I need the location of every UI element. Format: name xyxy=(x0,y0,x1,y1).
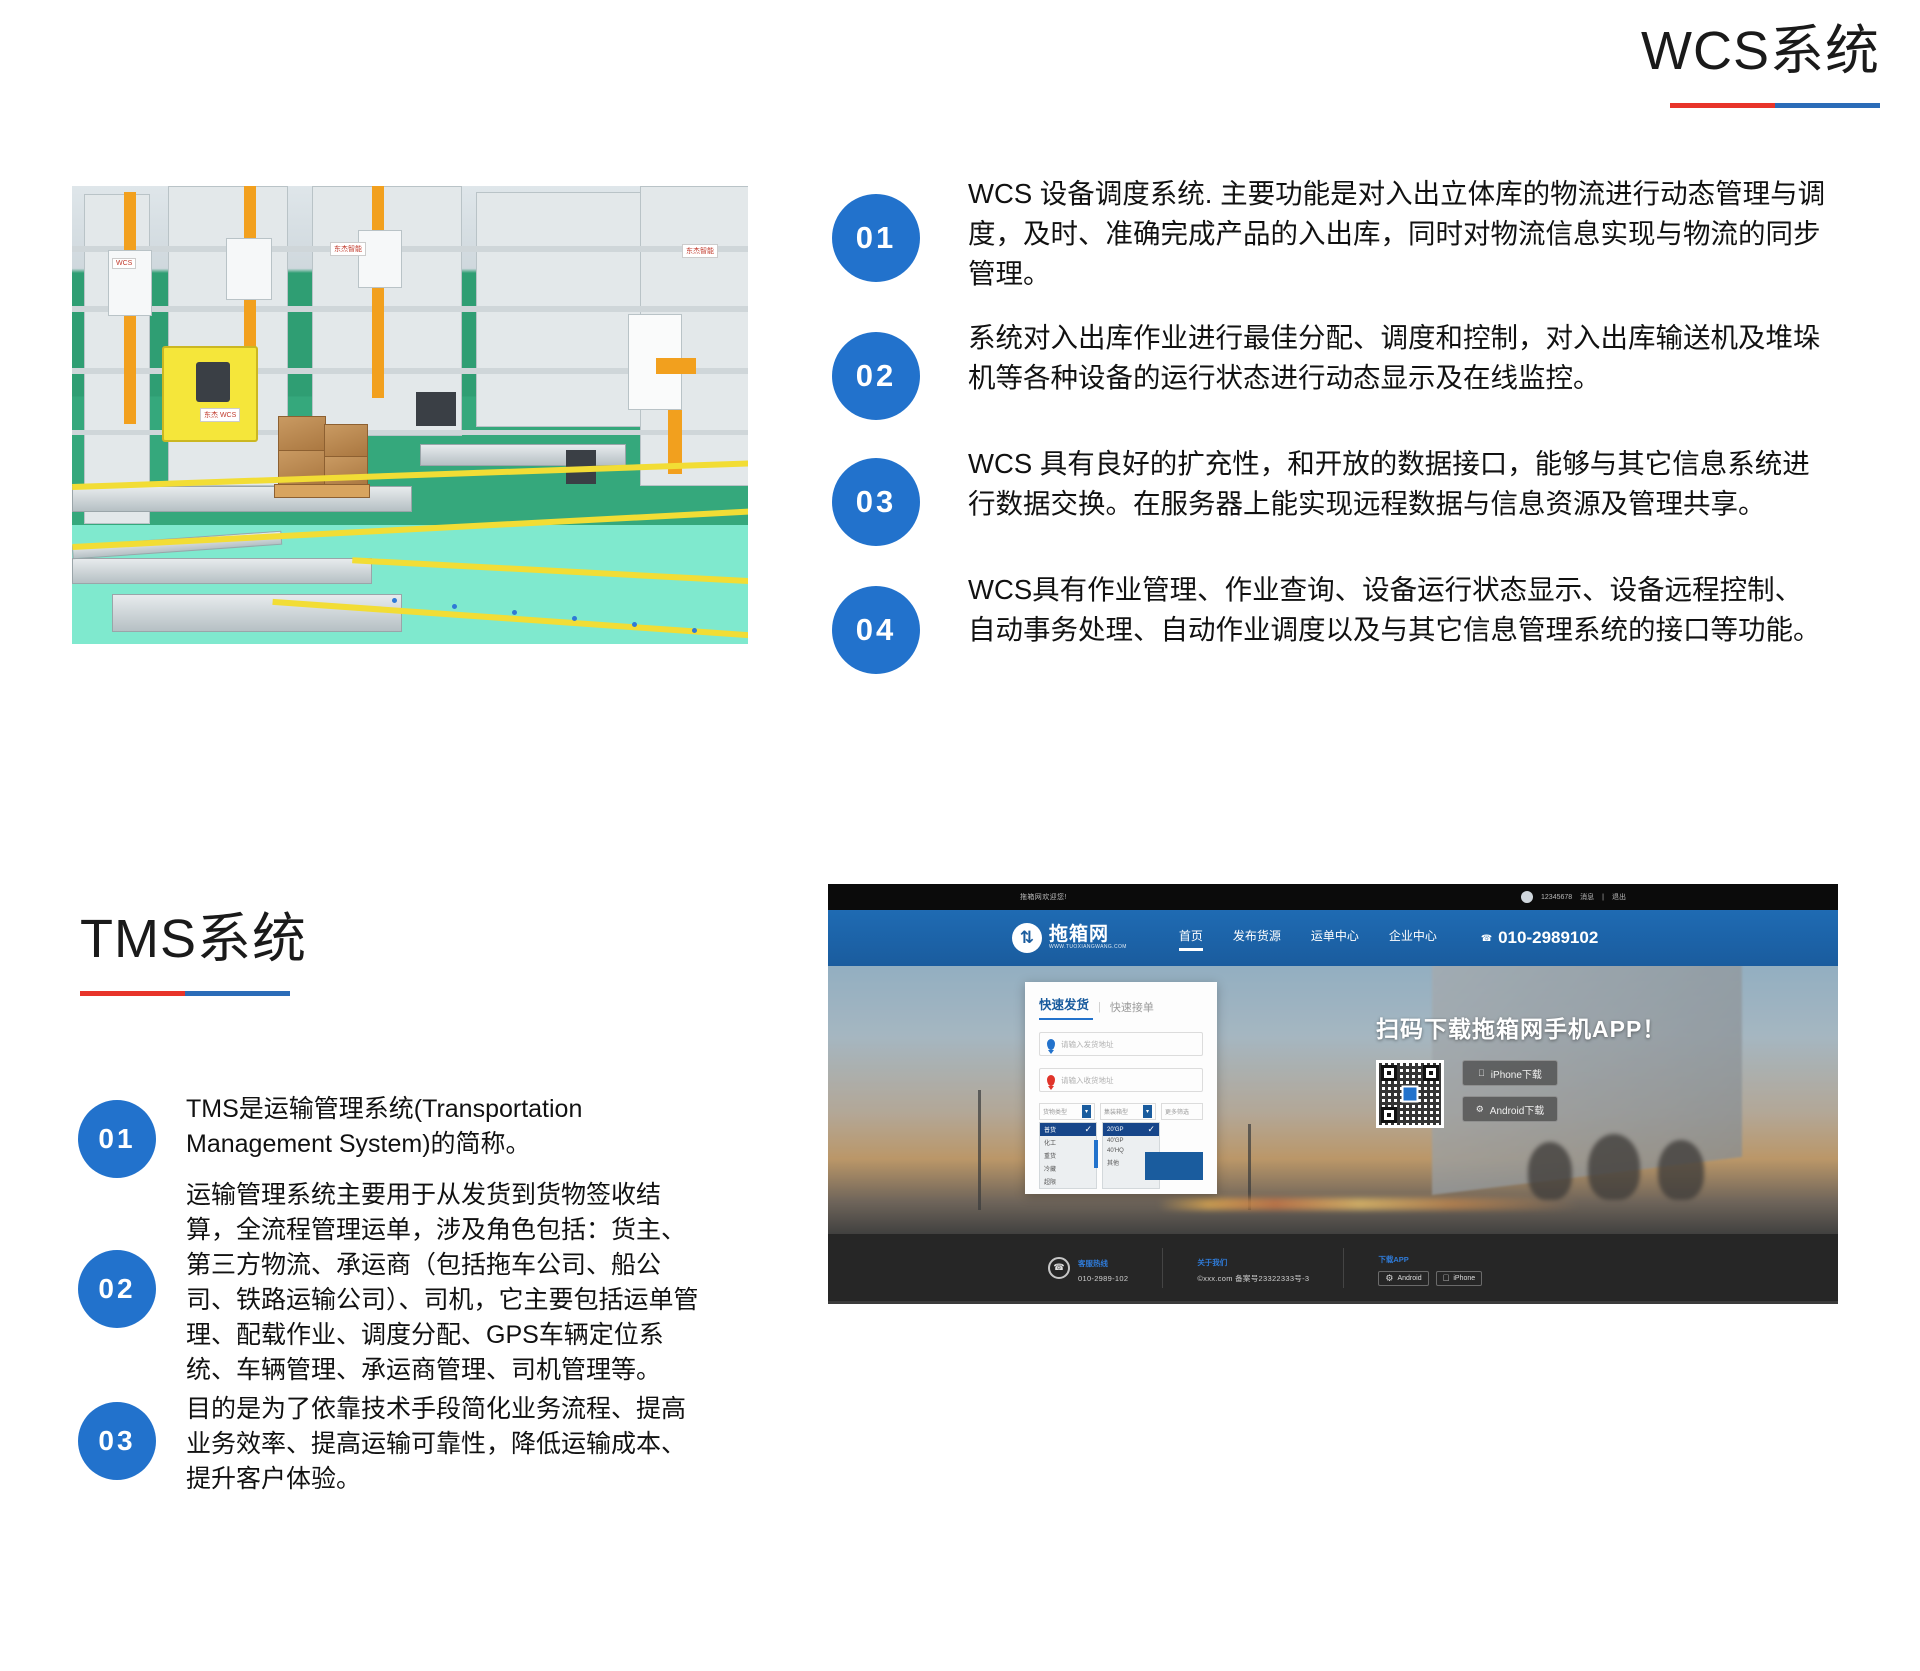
topbar-username: 12345678 xyxy=(1541,894,1572,901)
item-number-badge: 04 xyxy=(832,586,920,674)
machine-arm xyxy=(656,358,696,374)
list-item: 02 运输管理系统主要用于从发货到货物签收结算，全流程管理运单，涉及角色包括：货… xyxy=(78,1178,818,1388)
logo-brand-en: WWW.TUOXIANGWANG.COM xyxy=(1049,945,1127,950)
chevron-down-icon: ▾ xyxy=(1082,1105,1091,1118)
list-item: 03 WCS 具有良好的扩充性，和开放的数据接口，能够与其它信息系统进行数据交换… xyxy=(832,438,1892,546)
topbar-separator: | xyxy=(1602,894,1604,901)
floor-marker xyxy=(512,610,517,615)
tms-website-screenshot: 拖箱网欢迎您! 12345678 消息 | 退出 ⇅ 拖箱网 WWW.TUOXI… xyxy=(828,884,1838,1304)
hero-overlay xyxy=(828,966,1838,1234)
footer-hotline-title: 客服热线 xyxy=(1078,1259,1108,1268)
footer-iphone-button[interactable]:  iPhone xyxy=(1436,1271,1483,1286)
list-item: 04 WCS具有作业管理、作业查询、设备运行状态显示、设备远程控制、自动事务处理… xyxy=(832,564,1892,674)
wcs-title-block: WCS系统 xyxy=(1641,22,1880,108)
site-hero-banner: 快速发货 | 快速接单 请输入发货地址 请输入收货地址 货物类型 ▾ 集装箱型 xyxy=(828,966,1838,1234)
item-description: 目的是为了依靠技术手段简化业务流程、提高业务效率、提高运输可靠性，降低运输成本、… xyxy=(186,1392,706,1497)
item-number-badge: 02 xyxy=(832,332,920,420)
check-icon: ✓ xyxy=(1147,1125,1155,1134)
rack-structure xyxy=(84,194,150,524)
origin-placeholder: 请输入发货地址 xyxy=(1061,1039,1114,1050)
floor-marker xyxy=(572,616,577,621)
dropdown-scrollbar[interactable] xyxy=(1094,1140,1098,1168)
apple-icon:  xyxy=(1443,1274,1450,1283)
headset-icon: ☎ xyxy=(1048,1257,1070,1279)
title-rule-blue xyxy=(185,991,290,996)
item-description: WCS 设备调度系统. 主要功能是对入出立体库的物流进行动态管理与调度，及时、准… xyxy=(968,168,1828,294)
android-download-button[interactable]: ⚙ Android下载 xyxy=(1462,1096,1558,1122)
item-description: TMS是运输管理系统(Transportation Management Sys… xyxy=(186,1092,706,1162)
logo-text: 拖箱网 WWW.TUOXIANGWANG.COM xyxy=(1049,925,1127,950)
site-phone-number: 010-2989102 xyxy=(1498,928,1598,948)
destination-input[interactable]: 请输入收货地址 xyxy=(1039,1068,1203,1092)
destination-placeholder: 请输入收货地址 xyxy=(1061,1075,1114,1086)
qr-finder-icon xyxy=(1381,1065,1397,1081)
dropdown-option[interactable]: 40'GP xyxy=(1103,1136,1159,1146)
footer-download-column: 下载APP ⚙ Android  iPhone xyxy=(1343,1248,1516,1288)
nav-item-waybill[interactable]: 运单中心 xyxy=(1311,927,1359,949)
android-icon: ⚙ xyxy=(1385,1274,1393,1283)
list-item: 03 目的是为了依靠技术手段简化业务流程、提高业务效率、提高运输可靠性，降低运输… xyxy=(78,1392,818,1497)
destination-pin-icon xyxy=(1047,1075,1055,1086)
crane-carriage xyxy=(358,230,402,288)
dropdown-option[interactable]: 冷藏 xyxy=(1040,1162,1096,1175)
footer-android-button[interactable]: ⚙ Android xyxy=(1378,1271,1428,1286)
apple-icon:  xyxy=(1478,1069,1485,1078)
warehouse-3d-image: WCS 东杰智能 东杰智能 东杰 WCS xyxy=(72,186,748,644)
equipment-label: WCS xyxy=(112,258,136,269)
tab-quick-ship[interactable]: 快速发货 xyxy=(1039,994,1089,1020)
equipment-label: 东杰智能 xyxy=(682,244,718,258)
item-description: WCS 具有良好的扩充性，和开放的数据接口，能够与其它信息系统进行数据交换。在服… xyxy=(968,438,1828,524)
equipment-label: 东杰智能 xyxy=(330,242,366,256)
carton-box xyxy=(278,416,326,454)
conveyor-line xyxy=(112,594,402,632)
footer-hotline-text: 客服热线 010-2989-102 xyxy=(1078,1253,1128,1283)
qr-finder-icon xyxy=(1381,1107,1397,1123)
app-promo-block: 扫码下载拖箱网手机APP！  iPhone下载 ⚙ And xyxy=(1376,1010,1666,1128)
nav-item-company[interactable]: 企业中心 xyxy=(1389,927,1437,949)
floor-marker xyxy=(692,628,697,633)
item-number-badge: 01 xyxy=(832,194,920,282)
filter-selects: 货物类型 ▾ 集装箱型 ▾ 更多筛选 xyxy=(1039,1103,1203,1120)
site-logo[interactable]: ⇅ 拖箱网 WWW.TUOXIANGWANG.COM xyxy=(1012,923,1127,953)
wcs-page-title: WCS系统 xyxy=(1641,22,1880,81)
agv-hmi-panel xyxy=(196,362,230,402)
rack-beam xyxy=(72,246,748,252)
site-footer: ☎ 客服热线 010-2989-102 关于我们 ©xxx.com 备案号233… xyxy=(828,1234,1838,1304)
chevron-down-icon: ▾ xyxy=(1143,1105,1152,1118)
site-menu: 首页 发布货源 运单中心 企业中心 xyxy=(1179,927,1437,949)
tab-divider: | xyxy=(1098,1001,1101,1013)
iphone-download-label: iPhone下载 xyxy=(1491,1066,1542,1081)
footer-about-column: 关于我们 ©xxx.com 备案号23322333号-3 xyxy=(1162,1248,1343,1288)
dropdown-option-label: 20'GP xyxy=(1107,1127,1124,1133)
cargo-type-dropdown[interactable]: 普货 ✓ 化工 重货 冷藏 超限 xyxy=(1039,1122,1097,1189)
logo-icon: ⇅ xyxy=(1012,923,1042,953)
cargo-type-select[interactable]: 货物类型 ▾ xyxy=(1039,1103,1095,1120)
list-item: 01 TMS是运输管理系统(Transportation Management … xyxy=(78,1092,818,1178)
phone-icon: ☎ xyxy=(1481,934,1492,943)
app-download-buttons:  iPhone下载 ⚙ Android下载 xyxy=(1462,1060,1558,1122)
topbar-link-messages[interactable]: 消息 xyxy=(1580,892,1594,902)
footer-app-buttons: ⚙ Android  iPhone xyxy=(1378,1271,1482,1286)
conveyor-line xyxy=(72,558,372,584)
container-type-label: 集装箱型 xyxy=(1104,1107,1128,1116)
title-rule-red xyxy=(80,991,185,996)
avatar xyxy=(1521,891,1533,903)
tab-quick-accept[interactable]: 快速接单 xyxy=(1110,999,1154,1015)
footer-android-label: Android xyxy=(1397,1275,1421,1282)
topbar-link-logout[interactable]: 退出 xyxy=(1612,892,1626,902)
item-number-badge: 03 xyxy=(832,458,920,546)
tms-title-underline xyxy=(80,991,290,996)
title-rule-red xyxy=(1670,103,1775,108)
crane-carriage xyxy=(226,238,272,300)
quick-ship-card: 快速发货 | 快速接单 请输入发货地址 请输入收货地址 货物类型 ▾ 集装箱型 xyxy=(1025,982,1217,1194)
container-type-select[interactable]: 集装箱型 ▾ xyxy=(1100,1103,1156,1120)
qr-finder-icon xyxy=(1423,1065,1439,1081)
carton-box xyxy=(324,424,368,458)
footer-icp-text: ©xxx.com 备案号23322333号-3 xyxy=(1197,1273,1309,1284)
item-description: WCS具有作业管理、作业查询、设备运行状态显示、设备远程控制、自动事务处理、自动… xyxy=(968,564,1828,650)
footer-hotline-number: 010-2989-102 xyxy=(1078,1274,1128,1283)
dropdown-option[interactable]: 超限 xyxy=(1040,1175,1096,1188)
dropdown-option[interactable]: 重货 xyxy=(1040,1149,1096,1162)
dropdown-option-label: 普货 xyxy=(1044,1125,1056,1134)
more-filter-label: 更多筛选 xyxy=(1165,1107,1189,1116)
check-icon: ✓ xyxy=(1084,1125,1092,1134)
app-promo-title: 扫码下载拖箱网手机APP！ xyxy=(1376,1010,1666,1044)
wcs-feature-list: 01 WCS 设备调度系统. 主要功能是对入出立体库的物流进行动态管理与调度，及… xyxy=(832,168,1892,692)
item-description: 运输管理系统主要用于从发货到货物签收结算，全流程管理运单，涉及角色包括：货主、第… xyxy=(186,1178,706,1388)
dropdown-option[interactable]: 普货 ✓ xyxy=(1040,1123,1096,1136)
iphone-download-button[interactable]:  iPhone下载 xyxy=(1462,1060,1558,1086)
wcs-title-underline xyxy=(1670,103,1880,108)
item-number-badge: 02 xyxy=(78,1250,156,1328)
app-promo-row:  iPhone下载 ⚙ Android下载 xyxy=(1376,1060,1666,1128)
tms-page-title: TMS系统 xyxy=(80,910,307,969)
item-description: 系统对入出库作业进行最佳分配、调度和控制，对入出库输送机及堆垛机等各种设备的运行… xyxy=(968,312,1828,398)
cargo-type-label: 货物类型 xyxy=(1043,1107,1067,1116)
list-item: 02 系统对入出库作业进行最佳分配、调度和控制，对入出库输送机及堆垛机等各种设备… xyxy=(832,312,1892,420)
tms-feature-list: 01 TMS是运输管理系统(Transportation Management … xyxy=(78,1092,818,1497)
footer-download-title: 下载APP xyxy=(1378,1255,1408,1264)
android-icon: ⚙ xyxy=(1476,1105,1484,1114)
footer-download-text: 下载APP ⚙ Android  iPhone xyxy=(1378,1249,1482,1286)
logo-brand-cn: 拖箱网 xyxy=(1049,925,1127,945)
dropdown-option[interactable]: 20'GP ✓ xyxy=(1103,1123,1159,1136)
nav-item-publish[interactable]: 发布货源 xyxy=(1233,927,1281,949)
topbar-account-area: 12345678 消息 | 退出 xyxy=(1521,891,1626,903)
list-item: 01 WCS 设备调度系统. 主要功能是对入出立体库的物流进行动态管理与调度，及… xyxy=(832,168,1892,294)
agv-label: 东杰 WCS xyxy=(200,408,240,422)
floor-marker xyxy=(392,598,397,603)
qr-center-logo xyxy=(1402,1086,1419,1103)
dropdown-option[interactable]: 化工 xyxy=(1040,1136,1096,1149)
footer-about-text: 关于我们 ©xxx.com 备案号23322333号-3 xyxy=(1197,1252,1309,1284)
item-number-badge: 03 xyxy=(78,1402,156,1480)
floor-marker xyxy=(452,604,457,609)
android-download-label: Android下载 xyxy=(1490,1102,1544,1117)
floor-marker xyxy=(632,622,637,627)
origin-pin-icon xyxy=(1047,1039,1055,1050)
title-rule-blue xyxy=(1775,103,1880,108)
footer-iphone-label: iPhone xyxy=(1453,1275,1475,1282)
site-navbar: ⇅ 拖箱网 WWW.TUOXIANGWANG.COM 首页 发布货源 运单中心 … xyxy=(828,910,1838,966)
site-phone: ☎ 010-2989102 xyxy=(1481,928,1598,948)
qr-code xyxy=(1376,1060,1444,1128)
rack-beam xyxy=(72,306,748,312)
site-topbar: 拖箱网欢迎您! 12345678 消息 | 退出 xyxy=(828,884,1838,910)
topbar-slogan: 拖箱网欢迎您! xyxy=(1020,892,1067,902)
stacker-crane-mast xyxy=(372,186,384,398)
machine-block xyxy=(416,392,456,426)
item-number-badge: 01 xyxy=(78,1100,156,1178)
submit-button[interactable] xyxy=(1145,1152,1203,1180)
footer-about-title[interactable]: 关于我们 xyxy=(1197,1258,1227,1267)
tms-title-block: TMS系统 xyxy=(80,910,307,996)
more-filter-select[interactable]: 更多筛选 xyxy=(1161,1103,1203,1120)
footer-hotline-column: ☎ 客服热线 010-2989-102 xyxy=(1014,1248,1162,1288)
origin-input[interactable]: 请输入发货地址 xyxy=(1039,1032,1203,1056)
quick-ship-tabs: 快速发货 | 快速接单 xyxy=(1039,994,1203,1020)
nav-item-home[interactable]: 首页 xyxy=(1179,927,1203,949)
pallet xyxy=(274,484,370,498)
